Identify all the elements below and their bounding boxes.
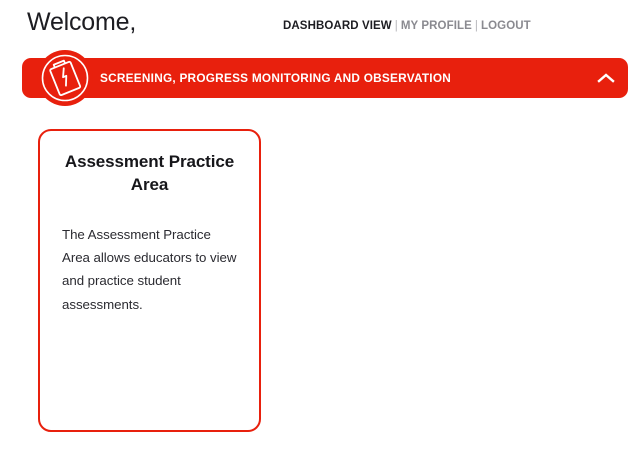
card-title: Assessment Practice Area xyxy=(62,151,237,197)
nav-link-dashboard-view[interactable]: DASHBOARD VIEW xyxy=(283,20,392,32)
clipboard-logo-icon xyxy=(37,50,93,106)
nav-separator-2: | xyxy=(472,20,481,32)
welcome-greeting: Welcome, xyxy=(27,8,136,37)
page-header: Welcome, DASHBOARD VIEW | MY PROFILE | L… xyxy=(0,0,644,48)
chevron-up-icon xyxy=(597,72,615,84)
section-banner-toggle[interactable] xyxy=(596,69,616,87)
section-banner-title: SCREENING, PROGRESS MONITORING AND OBSER… xyxy=(100,58,451,98)
nav-link-logout[interactable]: LOGOUT xyxy=(481,20,531,32)
nav-separator-1: | xyxy=(392,20,401,32)
nav-link-my-profile[interactable]: MY PROFILE xyxy=(401,20,472,32)
section-banner[interactable]: SCREENING, PROGRESS MONITORING AND OBSER… xyxy=(22,58,628,98)
top-navigation: DASHBOARD VIEW | MY PROFILE | LOGOUT xyxy=(283,20,531,32)
card-description: The Assessment Practice Area allows educ… xyxy=(62,223,237,316)
assessment-practice-area-card[interactable]: Assessment Practice Area The Assessment … xyxy=(38,129,261,432)
